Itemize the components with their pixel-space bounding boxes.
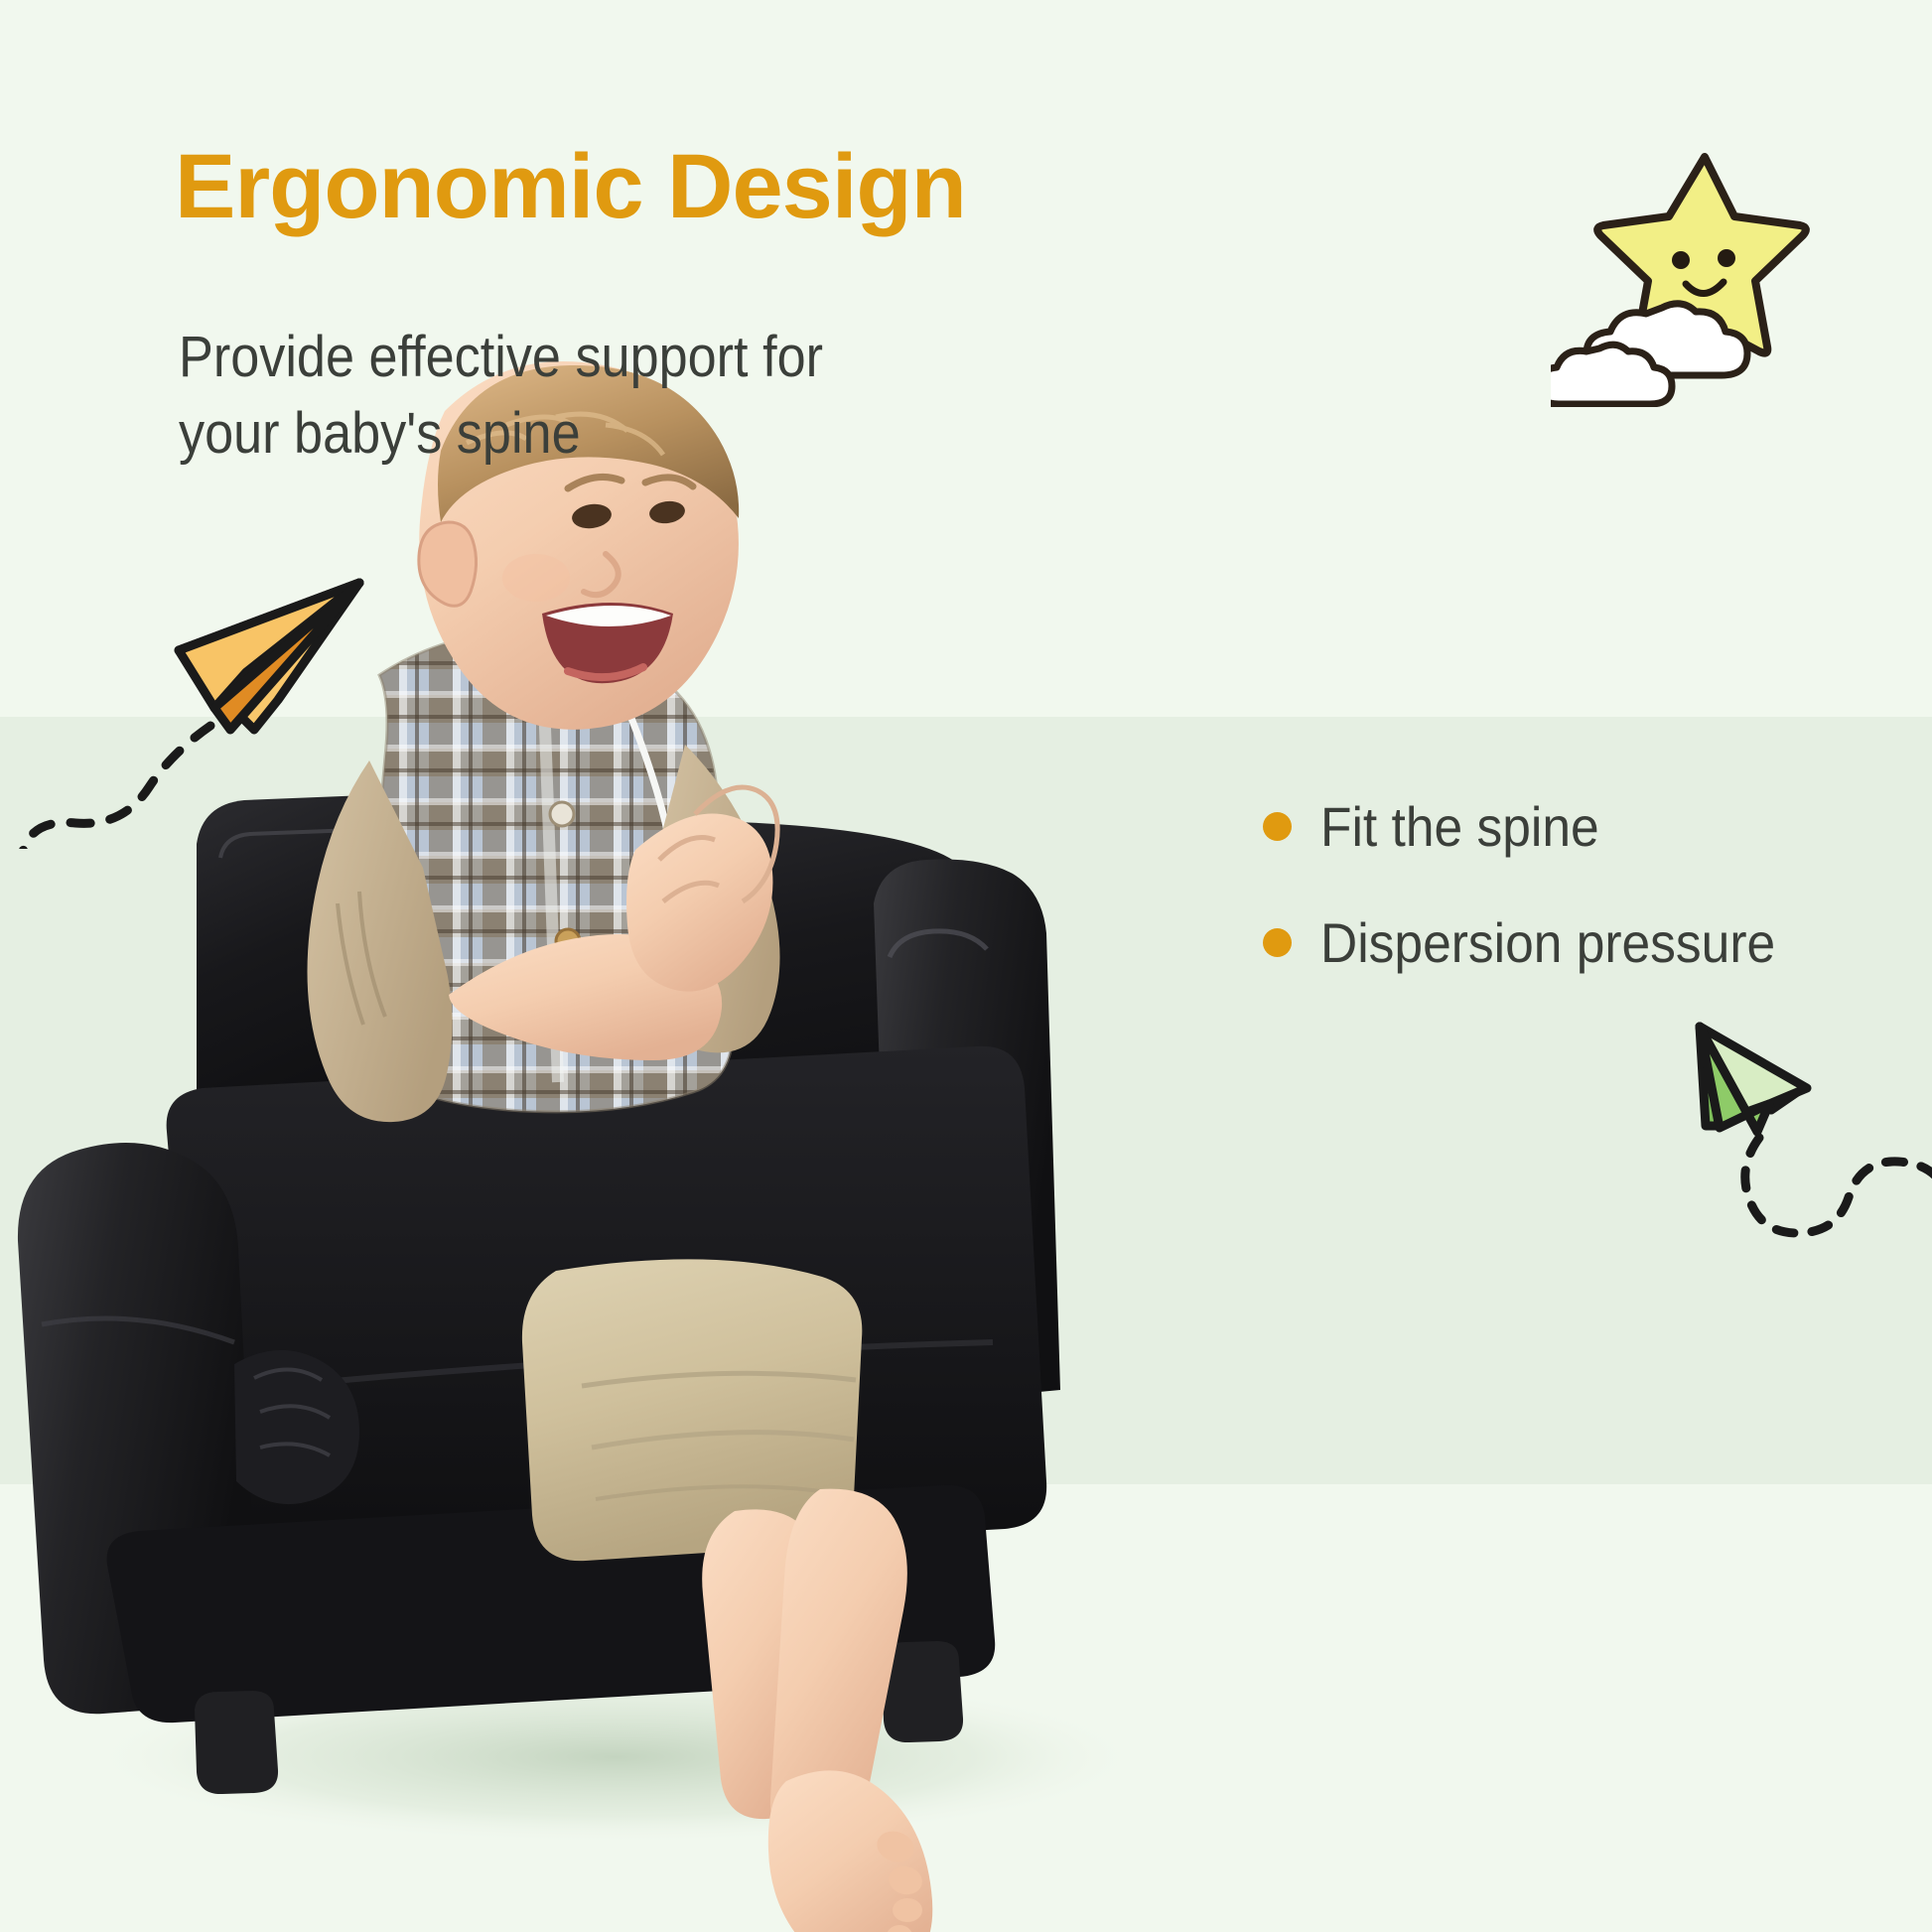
bullet-dot-icon — [1263, 812, 1292, 841]
feature-label: Dispersion pressure — [1320, 910, 1775, 975]
page-subtitle: Provide effective support for your baby'… — [179, 320, 823, 472]
plane-green-trail — [1745, 1138, 1932, 1233]
star-cloud-icon — [1551, 139, 1868, 407]
sofa-foot-left — [195, 1691, 278, 1794]
promo-banner: Ergonomic Design Provide effective suppo… — [0, 0, 1932, 1932]
bullet-dot-icon — [1263, 928, 1292, 957]
page-title: Ergonomic Design — [175, 139, 966, 235]
child-cheek — [502, 554, 570, 602]
plane-orange-trail — [0, 726, 210, 849]
subtitle-line-2: your baby's spine — [179, 396, 823, 473]
feature-item-fit-the-spine: Fit the spine — [1263, 794, 1918, 859]
star-eye-right — [1718, 249, 1735, 267]
feature-label: Fit the spine — [1320, 794, 1599, 859]
feature-item-dispersion-pressure: Dispersion pressure — [1263, 910, 1918, 975]
feature-list: Fit the spine Dispersion pressure — [1263, 794, 1918, 1027]
child-shirt-button-1 — [550, 802, 574, 826]
paper-plane-orange-icon — [0, 561, 377, 849]
star-eye-left — [1672, 251, 1690, 269]
paper-plane-green-icon — [1618, 993, 1932, 1291]
subtitle-line-1: Provide effective support for — [179, 320, 823, 396]
